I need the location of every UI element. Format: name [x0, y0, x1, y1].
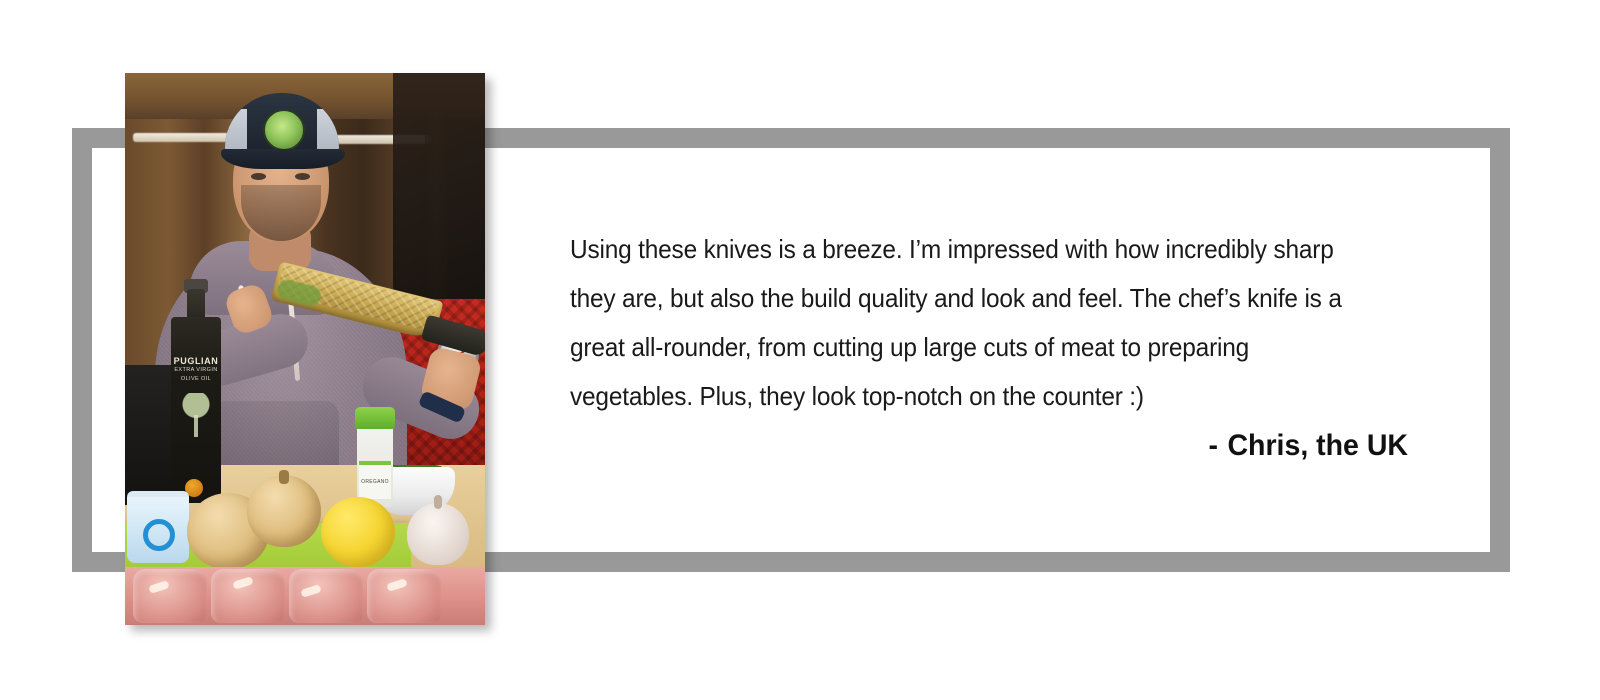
- garlic-stem: [434, 495, 442, 509]
- olive-oil-label-line3: OLIVE OIL: [173, 375, 219, 384]
- meat-chunk: [367, 569, 441, 623]
- olive-oil-label-line1: PUGLIAN: [173, 357, 219, 366]
- meat-fat-marbling: [386, 578, 407, 592]
- testimonial-attribution: -Chris, the UK: [612, 429, 1408, 463]
- photo-inner: PUGLIAN EXTRA VIRGIN OLIVE OIL OREGANO: [125, 73, 485, 625]
- frame-bar-left: [72, 128, 92, 572]
- person-eye-right: [295, 173, 310, 180]
- meat-fat-marbling: [148, 580, 169, 594]
- cap-brim: [221, 149, 345, 169]
- lemon: [321, 497, 395, 567]
- knife-blade-reflection: [276, 278, 324, 308]
- spice-jar-label: OREGANO: [359, 461, 391, 499]
- meat-chunk: [289, 569, 363, 623]
- garlic-bulb: [407, 503, 469, 565]
- meat-fat-marbling: [232, 576, 253, 590]
- spice-jar-lid: [355, 407, 395, 429]
- attribution-name: Chris, the UK: [1227, 429, 1408, 462]
- olive-oil-label: PUGLIAN EXTRA VIRGIN OLIVE OIL: [173, 351, 219, 475]
- cap-logo-icon: [263, 109, 305, 151]
- frame-bar-right: [1490, 128, 1510, 572]
- raw-meat-row: [125, 567, 485, 625]
- meat-fat-marbling: [300, 584, 321, 598]
- testimonial-banner: Using these knives is a breeze. I’m impr…: [0, 0, 1600, 700]
- customer-photo: PUGLIAN EXTRA VIRGIN OLIVE OIL OREGANO: [125, 73, 485, 625]
- olive-oil-label-line2: EXTRA VIRGIN: [173, 366, 219, 375]
- meat-chunk: [133, 569, 207, 623]
- onion-stem: [279, 470, 289, 484]
- olive-tree-icon: [179, 393, 213, 437]
- person-eye-left: [251, 173, 266, 180]
- onion-back: [247, 475, 321, 547]
- testimonial-quote-text: Using these knives is a breeze. I’m impr…: [570, 225, 1358, 421]
- blue-container: [127, 491, 189, 563]
- meat-chunk: [211, 569, 285, 623]
- attribution-dash: -: [1208, 429, 1218, 462]
- dark-background-right: [393, 73, 485, 323]
